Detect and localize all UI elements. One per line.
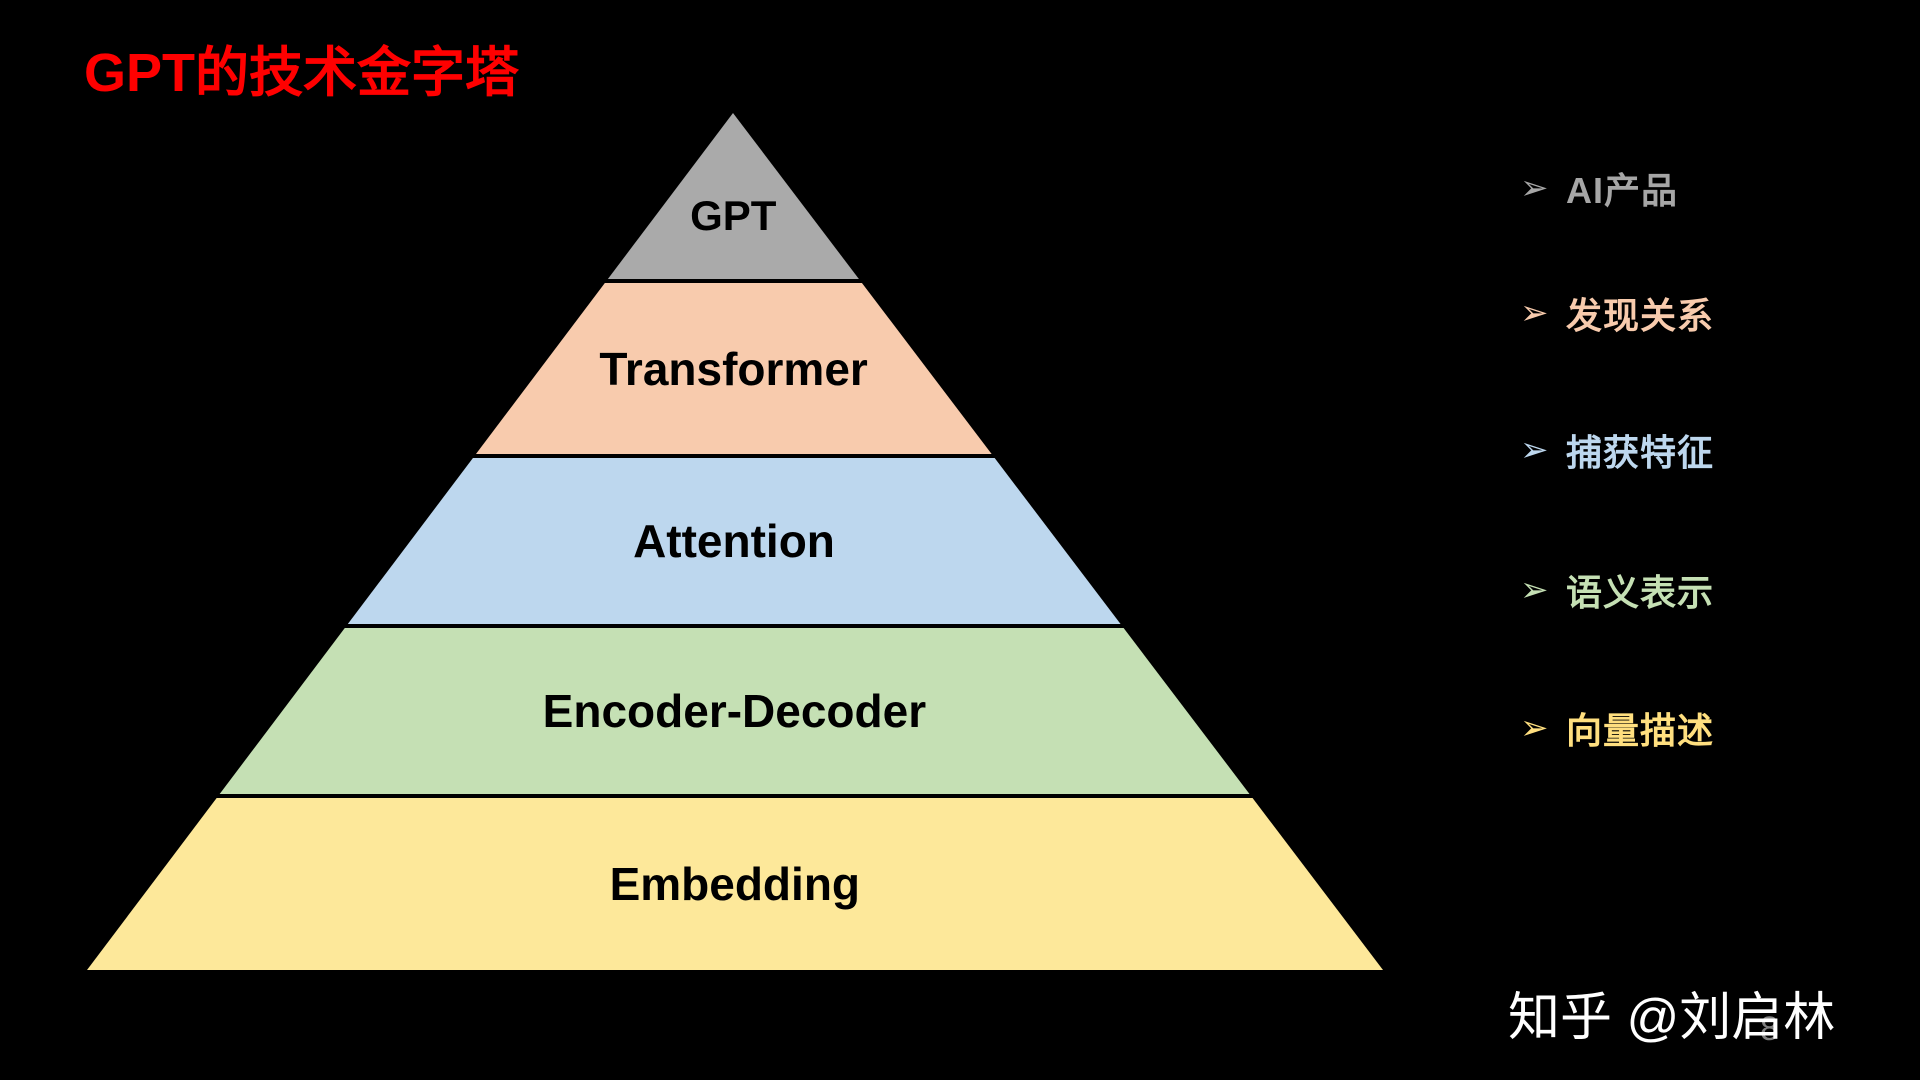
annotation-label-5: 向量描述: [1566, 702, 1714, 754]
annotation-label-1: AI产品: [1566, 162, 1678, 214]
annotation-item-3: ➢捕获特征: [1520, 420, 1714, 480]
arrow-bullet-icon: ➢: [1520, 171, 1566, 205]
annotation-label-4: 语义表示: [1566, 564, 1714, 616]
annotation-label-2: 发现关系: [1566, 287, 1714, 339]
watermark: 知乎 @刘启林: [1508, 975, 1835, 1050]
pyramid-tier-5: [87, 798, 1383, 970]
pyramid-tier-1: [608, 113, 859, 279]
arrow-bullet-icon: ➢: [1520, 296, 1566, 330]
slide-canvas: GPT的技术金字塔 GPTTransformerAttentionEncoder…: [0, 0, 1920, 1080]
annotation-label-3: 捕获特征: [1566, 424, 1714, 476]
arrow-bullet-icon: ➢: [1520, 433, 1566, 467]
pyramid-tier-2: [476, 283, 992, 454]
annotation-item-1: ➢AI产品: [1520, 158, 1678, 218]
annotation-item-2: ➢发现关系: [1520, 283, 1714, 343]
pyramid-tier-3: [348, 458, 1121, 624]
annotation-item-5: ➢向量描述: [1520, 698, 1714, 758]
pyramid-tier-4: [220, 628, 1250, 794]
arrow-bullet-icon: ➢: [1520, 573, 1566, 607]
arrow-bullet-icon: ➢: [1520, 711, 1566, 745]
annotation-item-4: ➢语义表示: [1520, 560, 1714, 620]
